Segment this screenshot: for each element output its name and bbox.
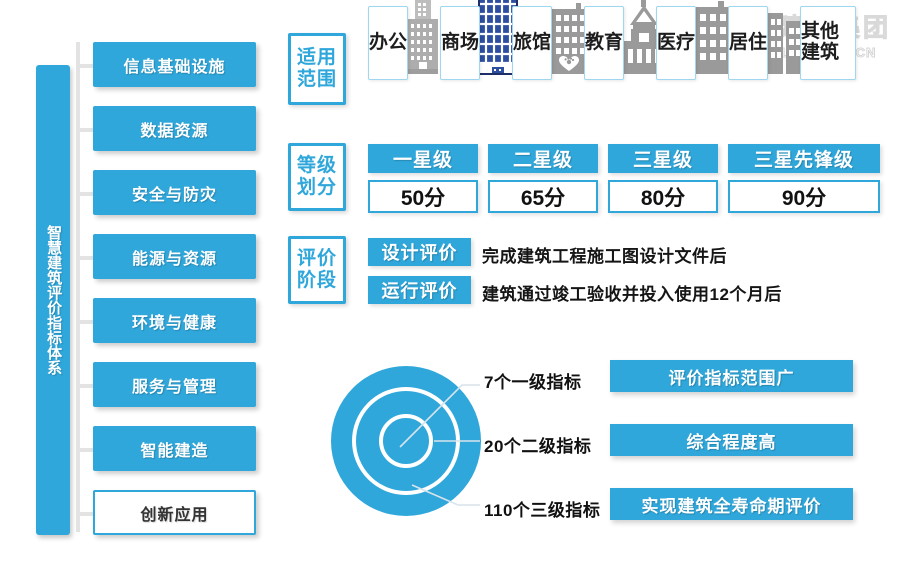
indicator-label-level1: 7个一级指标 [484, 368, 581, 393]
section-label-scope: 适用范围 [288, 33, 346, 105]
grade-score-2star: 65分 [488, 180, 598, 213]
sidebar-item-energy-resources[interactable]: 能源与资源 [93, 234, 256, 279]
section-label-stages: 评价阶段 [288, 236, 346, 304]
sidebar-item-data-resources[interactable]: 数据资源 [93, 106, 256, 151]
sidebar-item-environment-health[interactable]: 环境与健康 [93, 298, 256, 343]
scope-item-medical[interactable]: 医疗 [656, 0, 732, 80]
grade-header-3star: 三星级 [608, 144, 718, 173]
residential-building-icon [766, 0, 804, 80]
scope-item-office[interactable]: 办公 [368, 0, 440, 80]
infographic-canvas: 龙信建设集团 WWW.LXGROUP.CN 智慧建筑评价指标体系 信息基础设施 … [0, 0, 899, 572]
sidebar-item-service-management[interactable]: 服务与管理 [93, 362, 256, 407]
scope-item-hotel[interactable]: 旅馆 [512, 0, 588, 80]
scope-item-residential[interactable]: 居住 [728, 0, 804, 80]
scope-label-education: 教育 [584, 6, 624, 80]
stage-chip-operation: 运行评价 [368, 276, 471, 304]
scope-item-other[interactable]: 其他建筑 [800, 0, 856, 80]
bracket-spine [76, 42, 80, 532]
sidebar-item-smart-construction[interactable]: 智能建造 [93, 426, 256, 471]
section-label-grades: 等级划分 [288, 143, 346, 211]
scope-item-mall[interactable]: 商场 [440, 0, 518, 80]
grade-score-3star-pioneer: 90分 [728, 180, 880, 213]
stage-chip-design: 设计评价 [368, 238, 471, 266]
grade-score-3star: 80分 [608, 180, 718, 213]
scope-label-other: 其他建筑 [800, 6, 856, 80]
grade-header-1star: 一星级 [368, 144, 478, 173]
indicator-label-level2: 20个二级指标 [484, 432, 591, 457]
scope-item-education[interactable]: 教育 [584, 0, 666, 80]
sidebar-title: 智慧建筑评价指标体系 [36, 65, 70, 535]
office-tower-icon [406, 0, 440, 80]
feature-comprehensive: 综合程度高 [610, 424, 853, 456]
scope-label-hotel: 旅馆 [512, 6, 552, 80]
scope-label-medical: 医疗 [656, 6, 696, 80]
feature-broad-scope: 评价指标范围广 [610, 360, 853, 392]
hotel-building-icon [550, 0, 588, 80]
scope-label-residential: 居住 [728, 6, 768, 80]
stage-desc-operation: 建筑通过竣工验收并投入使用12个月后 [482, 280, 782, 305]
sidebar-item-safety-disaster[interactable]: 安全与防灾 [93, 170, 256, 215]
indicator-label-level3: 110个三级指标 [484, 496, 600, 521]
sidebar-item-innovation-app[interactable]: 创新应用 [93, 490, 256, 535]
feature-lifecycle-eval: 实现建筑全寿命期评价 [610, 488, 853, 520]
stage-desc-design: 完成建筑工程施工图设计文件后 [482, 242, 727, 267]
scope-label-office: 办公 [368, 6, 408, 80]
sidebar-item-info-infrastructure[interactable]: 信息基础设施 [93, 42, 256, 87]
scope-label-mall: 商场 [440, 6, 480, 80]
grade-score-1star: 50分 [368, 180, 478, 213]
grade-header-3star-pioneer: 三星先锋级 [728, 144, 880, 173]
hospital-building-icon [694, 0, 732, 80]
grade-header-2star: 二星级 [488, 144, 598, 173]
